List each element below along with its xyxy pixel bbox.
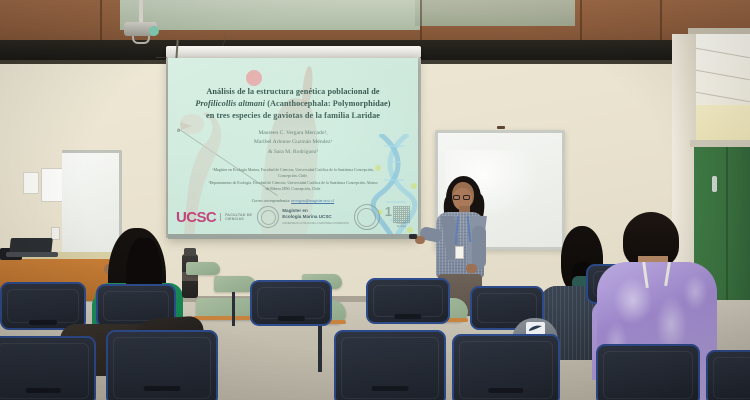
chair-back-foreground[interactable]	[596, 344, 700, 400]
anniversary-caption-2: Ecología	[393, 226, 410, 229]
bird-logo-icon	[528, 325, 543, 332]
presentation-clicker[interactable]	[409, 234, 417, 239]
affiliation-line-3: ²Departamento de Ecología, Facultad de C…	[184, 180, 402, 186]
name-badge	[455, 246, 464, 259]
anniversary-emblem	[393, 206, 410, 223]
program-line1: Magíster en	[282, 208, 308, 213]
slide-title-line1: Análisis de la estructura genética pobla…	[178, 86, 408, 98]
door-frame-top	[690, 140, 750, 147]
author-3: & Sara M. Rodríguez²	[178, 148, 408, 158]
wood-panel-ceiling	[0, 0, 750, 44]
projection-screen: Análisis de la estructura genética pobla…	[168, 58, 418, 238]
ceiling-seam	[100, 0, 102, 44]
projector-mount-rod	[139, 0, 143, 24]
program-sub: UNIVERSIDAD CATÓLICA DE LA SANTÍSIMA CON…	[282, 222, 348, 225]
whiteboard-marker	[497, 126, 505, 129]
chair-back[interactable]	[0, 282, 86, 330]
laptop-base	[6, 252, 58, 257]
program-line2: Ecología Marina UCSC	[282, 214, 332, 219]
chair-back-foreground[interactable]	[0, 336, 96, 400]
desk-leg	[232, 292, 235, 326]
slide-logo-strip: UCSC FACULTAD DE CIENCIAS Magíster en Ec…	[168, 202, 418, 232]
faculty-logo: FACULTAD DE CIENCIAS	[220, 213, 252, 222]
pink-circle-graphic	[246, 70, 262, 86]
chair-back-foreground[interactable]	[706, 350, 750, 400]
glasses-icon	[453, 195, 471, 200]
water-bottle-cap	[184, 248, 196, 256]
slide-affiliations: ¹Magíster en Ecología Marina, Facultad d…	[178, 167, 408, 192]
anniversary-number: 1	[385, 206, 392, 218]
ceiling-glass-strip	[120, 0, 420, 30]
upper-wall-panel	[690, 105, 750, 145]
chair-back[interactable]	[250, 280, 332, 326]
no-smoking-sign	[23, 172, 39, 194]
university-seal-icon	[354, 204, 380, 230]
ceiling-glass-strip-2	[415, 0, 575, 26]
ceiling-seam	[420, 0, 422, 44]
chair-back-foreground[interactable]	[452, 334, 560, 400]
presenter-arm-right	[472, 226, 486, 268]
ucsc-logo: UCSC	[176, 209, 216, 226]
species-name: Profilicollis altmani	[195, 99, 265, 108]
projection-screen-housing	[166, 46, 421, 58]
author-1: Maureen C. Vergara Mercado¹,	[178, 129, 408, 139]
congress-anniversary-logo: 1 Congreso Ecología	[385, 206, 410, 229]
slide-title: Análisis de la estructura genética pobla…	[178, 86, 408, 122]
light-well-trim	[688, 28, 750, 34]
slide-authors: Maureen C. Vergara Mercado¹, Maribel Arl…	[178, 129, 408, 158]
author-2: Maribel Arlenne Guzmán Méndez¹	[178, 138, 408, 148]
presentation-slide: Análisis de la estructura genética pobla…	[168, 58, 418, 238]
classroom-presentation-photo: Análisis de la estructura genética pobla…	[0, 0, 750, 400]
desk-leg	[318, 322, 322, 372]
taxon-suffix: (Acanthocephala: Polymorphidae)	[265, 99, 391, 108]
program-seal-icon	[257, 206, 279, 228]
faculty-line1: FACULTAD DE	[225, 213, 252, 217]
chair-back[interactable]	[366, 278, 450, 324]
affiliation-line-4: de Ribera 2850, Concepción, Chile	[184, 186, 402, 192]
magister-program-logo: Magíster en Ecología Marina UCSC UNIVERS…	[257, 206, 348, 228]
screen-edge-right	[418, 58, 421, 238]
chair-back-foreground[interactable]	[106, 330, 218, 400]
program-name: Magíster en Ecología Marina UCSC UNIVERS…	[282, 208, 348, 225]
ceiling-seam	[580, 0, 582, 44]
slide-title-line2: Profilicollis altmani (Acanthocephala: P…	[178, 98, 408, 110]
desk-edge	[194, 316, 258, 320]
screen-bottom-bar	[168, 234, 418, 239]
slide-title-line3: en tres especies de gaviotas de la famil…	[178, 110, 408, 122]
chair-back-foreground[interactable]	[334, 330, 446, 400]
presenter-hand-right	[466, 264, 477, 273]
door-sensor	[712, 176, 717, 192]
faculty-line2: CIENCIAS	[225, 217, 244, 221]
desk-tablet-arm	[186, 262, 220, 275]
ceiling-seam	[660, 0, 662, 44]
